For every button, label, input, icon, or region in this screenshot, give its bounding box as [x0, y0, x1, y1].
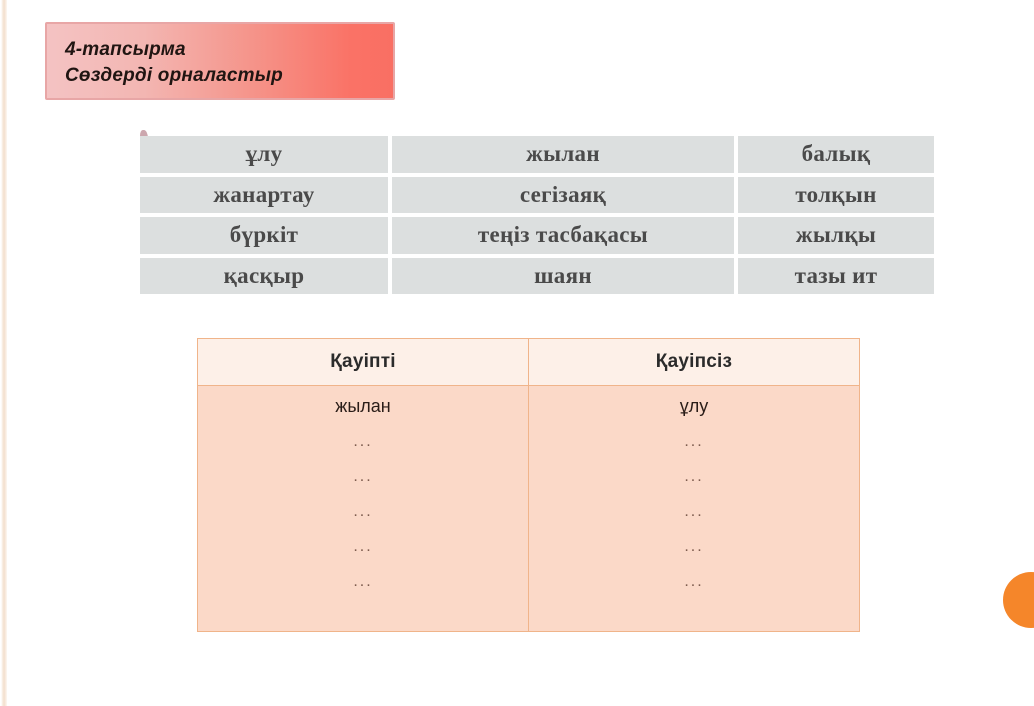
word-cell[interactable]: ұлу: [140, 136, 388, 173]
word-cell[interactable]: сегізаяқ: [392, 177, 734, 214]
table-row: ... ...: [198, 564, 860, 599]
empty-cell[interactable]: [529, 599, 860, 632]
word-cell[interactable]: тазы ит: [738, 258, 934, 295]
word-cell[interactable]: толқын: [738, 177, 934, 214]
table-row: ... ...: [198, 459, 860, 494]
table-row: ... ...: [198, 494, 860, 529]
column-header-safe: Қауіпсіз: [529, 339, 860, 386]
dangerous-entry[interactable]: жылан: [198, 386, 529, 425]
table-header-row: Қауіпті Қауіпсіз: [198, 339, 860, 386]
word-cell[interactable]: қасқыр: [140, 258, 388, 295]
safe-entry[interactable]: ...: [529, 494, 860, 529]
left-edge-stripe: [1, 0, 7, 706]
column-header-dangerous: Қауіпті: [198, 339, 529, 386]
dangerous-entry[interactable]: ...: [198, 459, 529, 494]
safe-entry[interactable]: ...: [529, 424, 860, 459]
word-cell[interactable]: бүркіт: [140, 217, 388, 254]
word-cell[interactable]: балық: [738, 136, 934, 173]
safe-entry[interactable]: ұлу: [529, 386, 860, 425]
word-cell[interactable]: жылқы: [738, 217, 934, 254]
dangerous-entry[interactable]: ...: [198, 424, 529, 459]
table-row-spacer: [198, 599, 860, 632]
table-row: ... ...: [198, 424, 860, 459]
task-instruction-label: Сөздерді орналастыр: [65, 63, 393, 89]
task-number-label: 4-тапсырма: [65, 37, 393, 63]
safe-entry[interactable]: ...: [529, 459, 860, 494]
task-title-box: 4-тапсырма Сөздерді орналастыр: [45, 22, 395, 100]
word-cell[interactable]: жылан: [392, 136, 734, 173]
safe-entry[interactable]: ...: [529, 564, 860, 599]
word-cell[interactable]: жанартау: [140, 177, 388, 214]
empty-cell[interactable]: [198, 599, 529, 632]
classification-table: Қауіпті Қауіпсіз жылан ұлу ... ... ... .…: [197, 338, 860, 632]
dangerous-entry[interactable]: ...: [198, 494, 529, 529]
dangerous-entry[interactable]: ...: [198, 529, 529, 564]
word-cell[interactable]: теңіз тасбақасы: [392, 217, 734, 254]
safe-entry[interactable]: ...: [529, 529, 860, 564]
word-bank-grid: ұлу жылан балық жанартау сегізаяқ толқын…: [140, 136, 926, 294]
table-row: жылан ұлу: [198, 386, 860, 425]
dangerous-entry[interactable]: ...: [198, 564, 529, 599]
word-cell[interactable]: шаян: [392, 258, 734, 295]
table-row: ... ...: [198, 529, 860, 564]
decorative-orange-circle: [1003, 572, 1034, 628]
